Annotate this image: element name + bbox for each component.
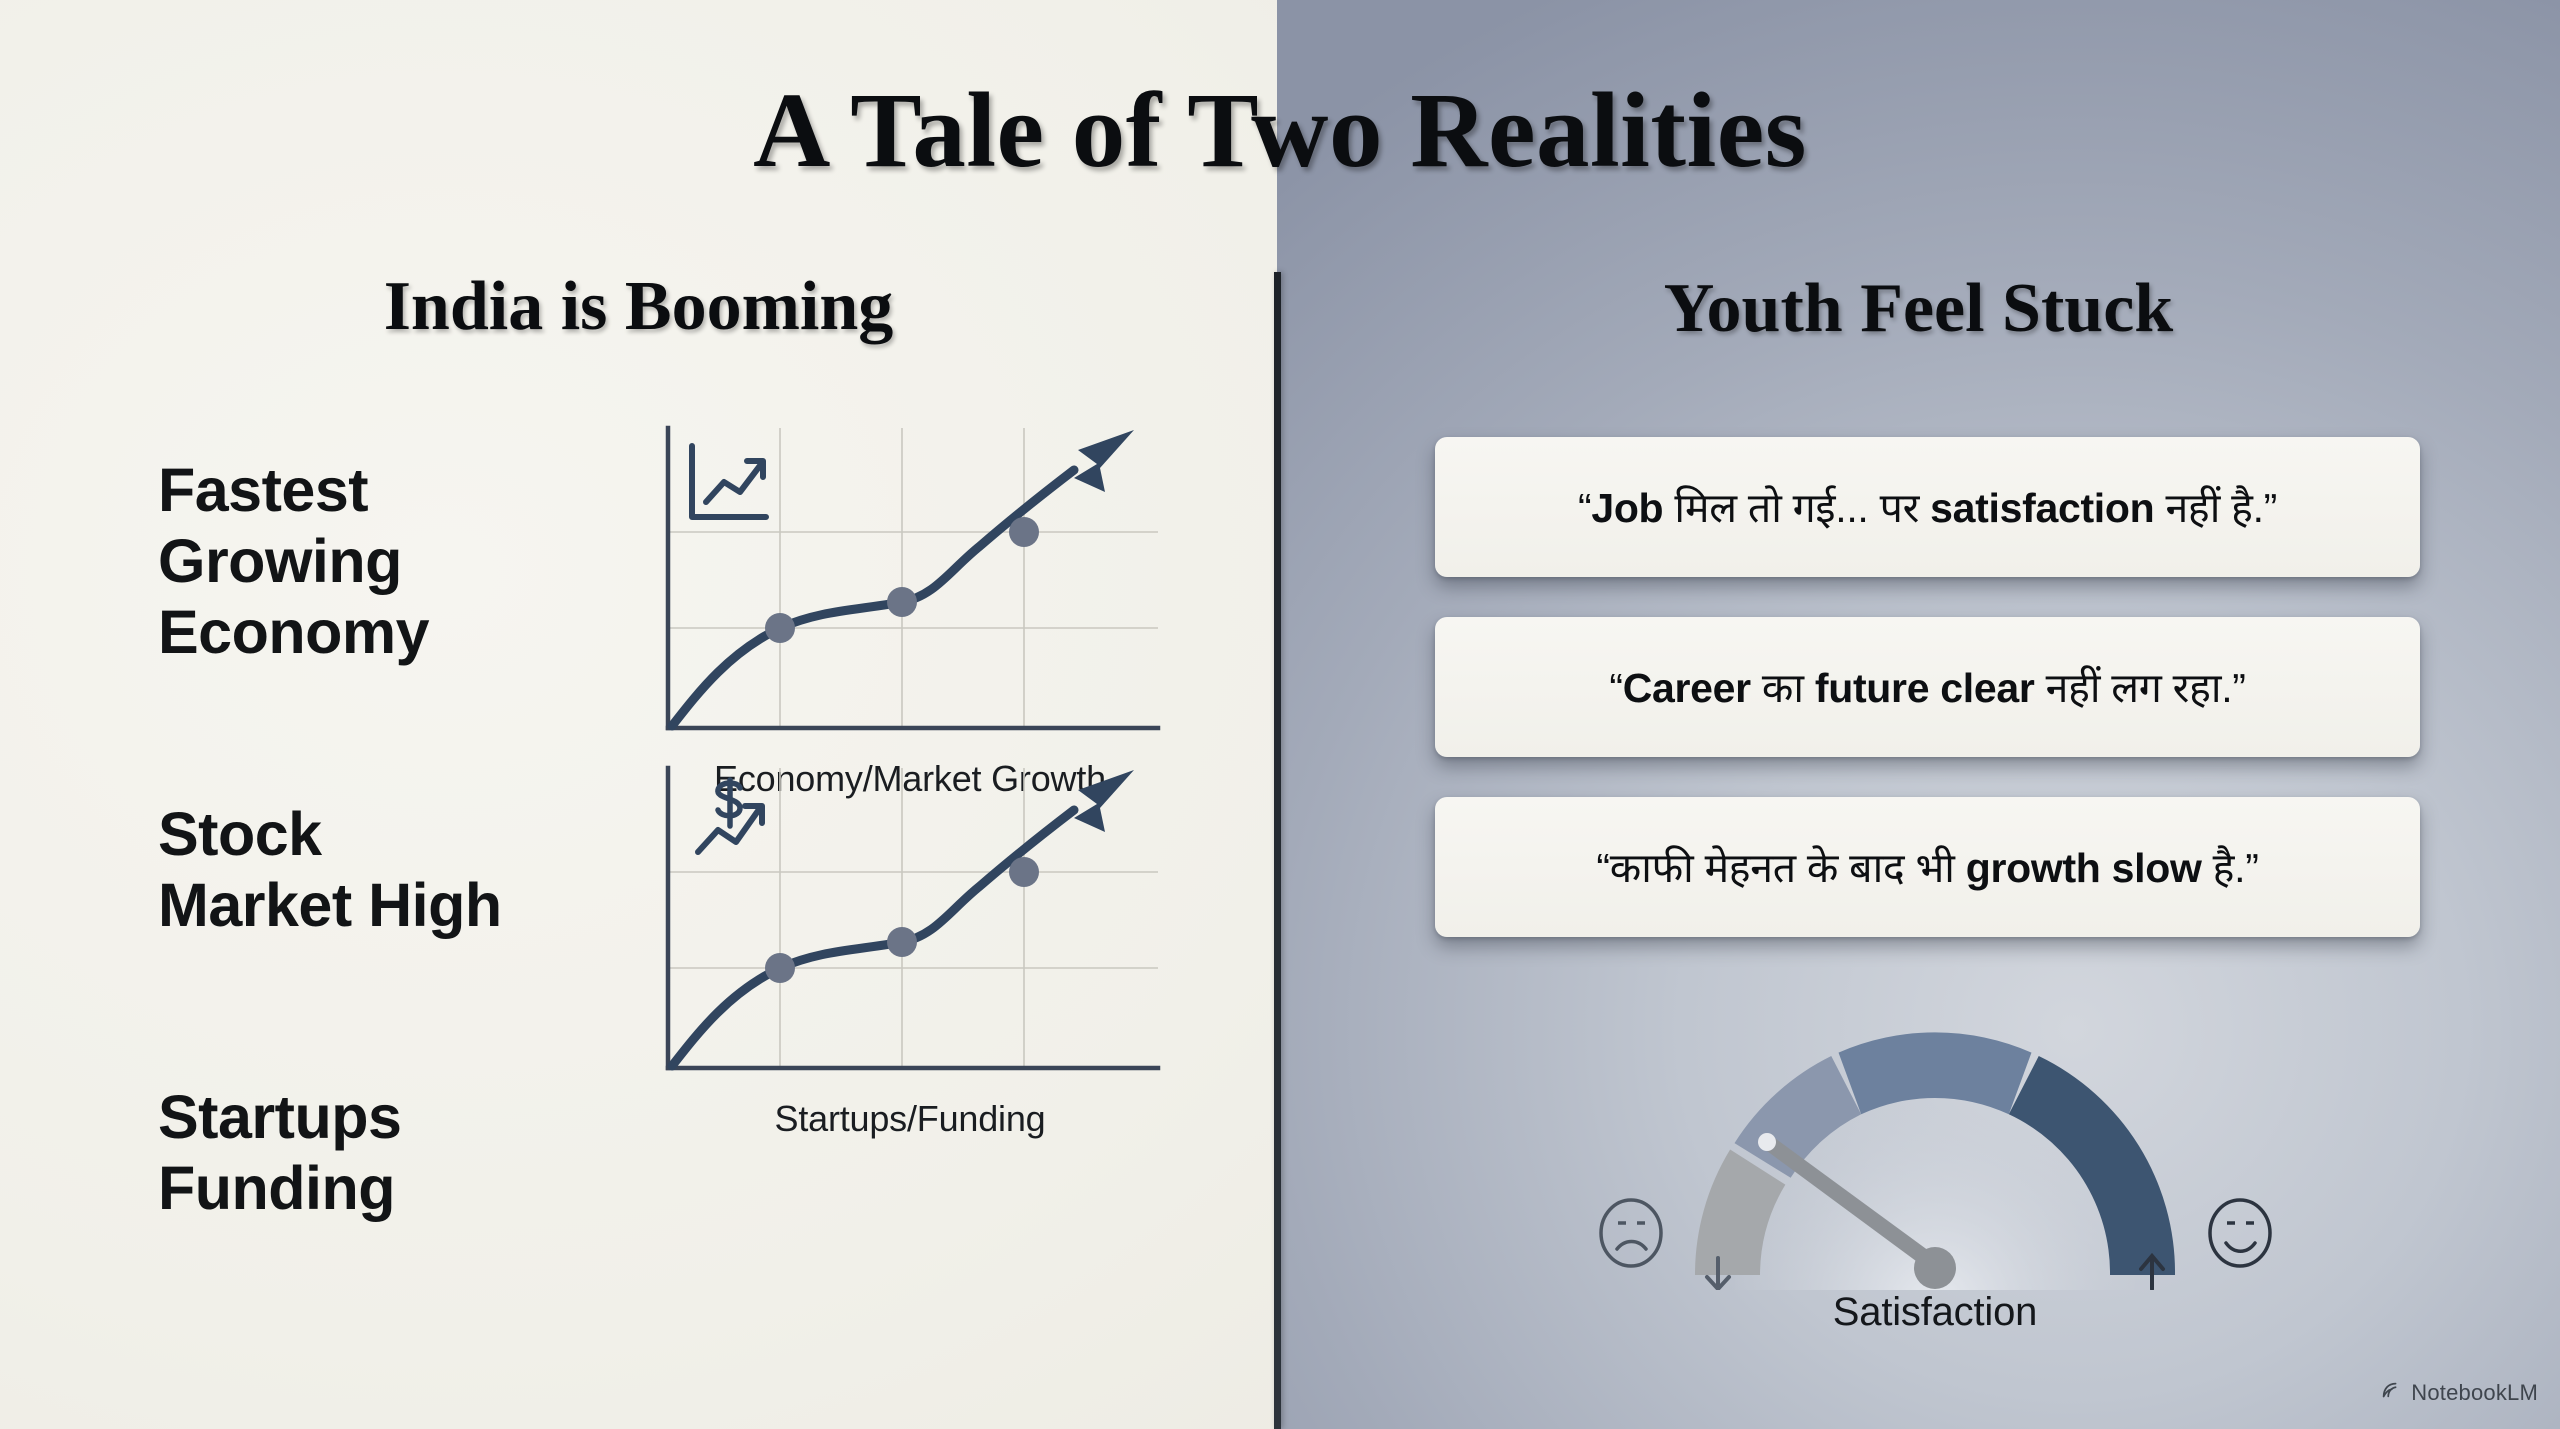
- satisfaction-gauge: Satisfaction: [1595, 990, 2275, 1370]
- left-panel-heading: India is Booming: [0, 272, 1277, 342]
- growth-series-line: [672, 470, 1074, 726]
- funding-line-chart-svg: [650, 760, 1170, 1100]
- panel-divider: [1274, 272, 1281, 1429]
- quote-card: “काफी मेहनत के बाद भी growth slow है.”: [1435, 797, 2420, 937]
- gauge-svg: [1595, 990, 2275, 1290]
- trend-up-icon: [692, 446, 766, 517]
- infographic-canvas: A Tale of Two Realities India is Booming…: [0, 0, 2560, 1429]
- list-item: Stock Market High: [158, 799, 502, 941]
- dollar-trend-up-icon: [698, 780, 762, 852]
- right-panel-heading: Youth Feel Stuck: [1277, 274, 2560, 344]
- list-item: Startups Funding: [158, 1082, 401, 1224]
- funding-series-line: [672, 810, 1074, 1066]
- quote-card: “Career का future clear नहीं लग रहा.”: [1435, 617, 2420, 757]
- happy-face-icon: [2210, 1200, 2270, 1266]
- page-title: A Tale of Two Realities: [0, 78, 2560, 185]
- watermark: NotebookLM: [2380, 1379, 2538, 1407]
- chart-caption: Startups/Funding: [650, 1098, 1170, 1140]
- growth-arrowhead-icon: [1074, 430, 1134, 492]
- quote-text: “काफी मेहनत के बाद भी growth slow है.”: [1568, 839, 2286, 895]
- funding-arrowhead-icon: [1074, 770, 1134, 832]
- notebooklm-logo-icon: [2380, 1379, 2402, 1407]
- quote-card: “Job मिल तो गई... पर satisfaction नहीं ह…: [1435, 437, 2420, 577]
- startups-funding-chart: Startups/Funding: [650, 760, 1170, 1180]
- quote-text: “Career का future clear नहीं लग रहा.”: [1581, 659, 2273, 715]
- watermark-label: NotebookLM: [2411, 1380, 2538, 1406]
- sad-face-icon: [1601, 1200, 1661, 1266]
- growth-line-chart-svg: [650, 420, 1170, 760]
- quote-text: “Job मिल तो गई... पर satisfaction नहीं ह…: [1550, 479, 2305, 535]
- list-item: Fastest Growing Economy: [158, 455, 429, 667]
- gauge-label: Satisfaction: [1595, 1290, 2275, 1335]
